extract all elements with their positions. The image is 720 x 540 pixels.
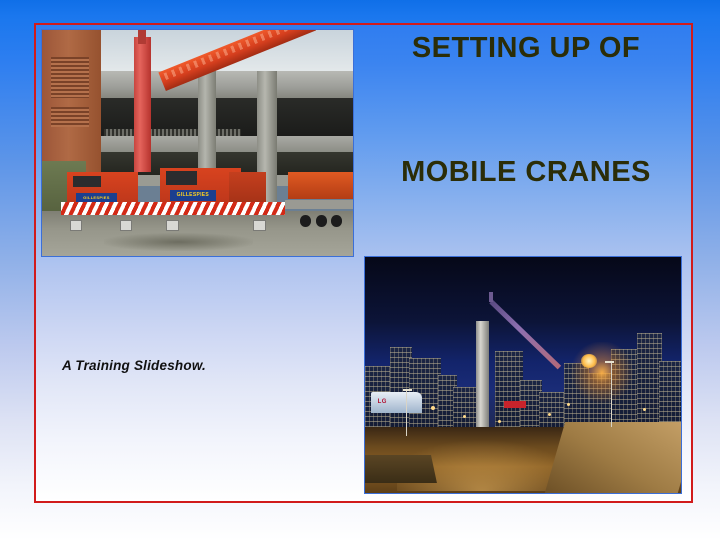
street-lamp-head-2 [403,389,412,391]
slide-title-line-2: MOBILE CRANES [366,157,686,189]
cranes-photo: GILLESPIES GILLESPIES [41,29,354,257]
concrete-deck-upper [92,71,353,98]
outrigger-pad-3 [166,220,178,231]
concrete-barrier-left [364,455,438,483]
brick-building [42,30,101,172]
concrete-deck-middle [92,136,353,152]
red-neon-sign [504,401,526,408]
trailer-wheel-2 [316,215,327,226]
crane-carrier-rear [229,172,266,204]
building-vent-lower [51,107,88,127]
skyline-building-6 [495,351,523,427]
hazard-stripe-panels [61,202,285,216]
skyline-building-13 [659,361,682,427]
crane-mast-head [138,30,146,44]
cab-window-right [166,171,197,185]
slide-title-block: SETTING UP OF MOBILE CRANES [366,33,686,189]
street-light-core [581,354,597,368]
outrigger-pad-2 [120,220,132,231]
street-light-dot-3 [498,420,501,423]
street-light-glow [561,342,643,403]
concrete-core-tower [476,321,489,444]
lowbed-trailer-deck [285,200,353,209]
outrigger-pad-4 [253,220,265,231]
trailer-wheel-1 [300,215,311,226]
slide-subtitle: A Training Slideshow. [62,358,206,373]
cab-window-left [73,176,101,187]
night-crane-mast [489,292,493,301]
slide-frame: GILLESPIES GILLESPIES SETTING UP OF MOBI… [34,23,693,503]
street-lamp-pole-2 [406,389,407,436]
night-city-photo: LG [364,256,682,494]
deck-railing [104,129,241,136]
crane-mast [134,37,151,173]
concrete-barrier-right [544,422,682,493]
wet-ground-patch [104,233,253,251]
crane-company-sign-right: GILLESPIES [170,190,217,200]
slide-title-line-1: SETTING UP OF [366,33,686,65]
street-lamp-pole-1 [611,361,612,427]
billboard-label: LG [378,399,387,405]
crane-company-sign-left: GILLESPIES [76,193,116,202]
lowbed-trailer-load [288,172,353,199]
street-lamp-head-1 [605,361,614,363]
outrigger-pad-1 [70,220,82,231]
building-vent-upper [51,57,88,98]
trailer-wheel-3 [331,215,342,226]
